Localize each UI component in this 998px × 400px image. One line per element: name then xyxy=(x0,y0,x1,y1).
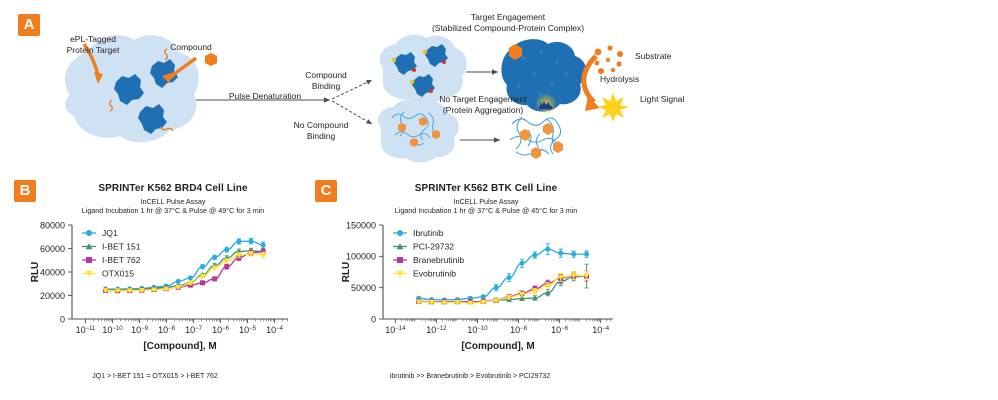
label-target-engagement: Target Engagement (Stabilized Compound-P… xyxy=(378,12,638,33)
x-tick-label: 10−10 xyxy=(102,325,123,335)
panel-b-plot-area: 02000040000600008000010−1110−1010−910−81… xyxy=(0,215,310,365)
light-burst-icon xyxy=(597,93,629,122)
y-axis-title: RLU xyxy=(30,262,41,283)
x-tick-label: 10−9 xyxy=(131,325,149,335)
data-point-marker xyxy=(507,275,512,280)
x-tick-label: 10−8 xyxy=(510,325,528,335)
x-tick-label: 10−4 xyxy=(592,325,610,335)
y-tick-label: 80000 xyxy=(40,220,65,230)
y-tick-label: 0 xyxy=(371,314,376,324)
data-point-marker xyxy=(236,239,241,244)
substrate-dots xyxy=(595,45,623,74)
x-tick-label: 10−14 xyxy=(385,325,406,335)
data-point-marker xyxy=(224,264,229,269)
label-no-compound-binding: No Compound Binding xyxy=(276,120,366,141)
x-tick-label: 10−4 xyxy=(266,325,284,335)
legend-label: Ibrutinib xyxy=(413,228,444,238)
data-point-marker xyxy=(545,247,550,252)
data-point-marker xyxy=(188,275,193,280)
y-tick-label: 50000 xyxy=(351,283,376,293)
hydrolysis-arrow xyxy=(584,56,596,102)
label-pulse-denaturation: Pulse Denaturation xyxy=(205,91,325,102)
legend-item-ibrutinib[interactable]: Ibrutinib xyxy=(393,228,444,238)
legend-item-i-bet-151[interactable]: I-BET 151 xyxy=(82,242,141,252)
label-light-signal: Light Signal xyxy=(640,94,720,105)
y-tick-label: 100000 xyxy=(346,252,376,262)
legend-item-evobrutinib[interactable]: Evobrutinib xyxy=(393,269,456,279)
data-point-marker xyxy=(224,247,229,252)
y-tick-label: 40000 xyxy=(40,267,65,277)
x-axis-title: [Compound], M xyxy=(143,341,216,352)
panel-b-title: SPRINTer K562 BRD4 Cell Line xyxy=(0,183,328,194)
x-tick-label: 10−5 xyxy=(239,325,257,335)
data-point-marker xyxy=(261,242,266,247)
legend-label: OTX015 xyxy=(102,269,134,279)
data-point-marker xyxy=(200,264,205,269)
panel-b-footer-ranking: JQ1 > I-BET 151 = OTX015 > I-BET 762 xyxy=(0,373,310,380)
label-compound: Compound xyxy=(155,42,227,53)
panel-b-chart: B SPRINTer K562 BRD4 Cell Line InCELL Pu… xyxy=(0,175,310,400)
x-tick-label: 10−6 xyxy=(551,325,569,335)
x-tick-label: 10−7 xyxy=(185,325,203,335)
data-point-marker xyxy=(571,252,576,257)
label-hydrolysis: Hydrolysis xyxy=(600,74,670,85)
legend-item-pci-29732[interactable]: PCI-29732 xyxy=(393,242,454,252)
y-tick-label: 60000 xyxy=(40,244,65,254)
panel-b-subtitle-assay: InCELL Pulse Assay xyxy=(0,197,328,206)
x-tick-label: 10−8 xyxy=(158,325,176,335)
y-axis-title: RLU xyxy=(341,262,352,283)
data-point-marker xyxy=(212,255,217,260)
data-point-marker xyxy=(481,294,486,299)
data-point-marker xyxy=(397,257,403,263)
y-tick-label: 0 xyxy=(60,314,65,324)
data-point-marker xyxy=(200,280,205,285)
data-point-marker xyxy=(397,230,403,236)
legend-item-otx015[interactable]: OTX015 xyxy=(82,269,134,279)
legend-item-jq1[interactable]: JQ1 xyxy=(82,228,118,238)
y-tick-label: 150000 xyxy=(346,220,376,230)
y-tick-label: 20000 xyxy=(40,291,65,301)
legend-item-i-bet-762[interactable]: I-BET 762 xyxy=(82,255,141,265)
panel-c-title: SPRINTer K562 BTK Cell Line xyxy=(305,183,651,194)
x-tick-label: 10−11 xyxy=(76,325,96,335)
data-point-marker xyxy=(494,285,499,290)
legend-label: Evobrutinib xyxy=(413,269,456,279)
panel-c-chart: C SPRINTer K562 BTK Cell Line InCELL Pul… xyxy=(305,175,635,400)
x-tick-label: 10−12 xyxy=(426,325,447,335)
label-epl-tagged-protein-target: ePL-Tagged Protein Target xyxy=(48,34,138,55)
panel-c-subtitle-assay: InCELL Pulse Assay xyxy=(305,197,651,206)
data-point-marker xyxy=(532,253,537,258)
panel-b-subtitle-conditions: Ligand Incubation 1 hr @ 37°C & Pulse @ … xyxy=(0,206,328,215)
legend-label: JQ1 xyxy=(102,228,118,238)
data-point-marker xyxy=(86,257,92,263)
label-no-target-engagement: No Target Engagement (Protein Aggregatio… xyxy=(388,94,578,115)
legend-item-branebrutinib[interactable]: Branebrutinib xyxy=(393,255,464,265)
panel-a-schematic: A xyxy=(0,0,998,175)
data-point-marker xyxy=(249,239,254,244)
legend-label: I-BET 151 xyxy=(102,242,141,252)
figure-root: A xyxy=(0,0,998,400)
compound-icon xyxy=(205,53,217,66)
data-point-marker xyxy=(86,230,92,236)
label-compound-binding: Compound Binding xyxy=(288,70,364,91)
panel-c-plot-area: 05000010000015000010−1410−1210−1010−810−… xyxy=(305,215,635,365)
legend-label: PCI-29732 xyxy=(413,242,454,252)
x-tick-label: 10−6 xyxy=(212,325,230,335)
protein-aggregate-icon xyxy=(510,117,563,159)
legend-label: I-BET 762 xyxy=(102,255,141,265)
data-point-marker xyxy=(519,261,524,266)
data-point-marker xyxy=(212,276,217,281)
panel-c-subtitle-conditions: Ligand Incubation 1 hr @ 37°C & Pulse @ … xyxy=(305,206,651,215)
panel-a-badge: A xyxy=(18,14,40,36)
data-point-marker xyxy=(584,252,589,257)
x-tick-label: 10−10 xyxy=(467,325,488,335)
panel-c-footer-ranking: ibrutinib >> Branebrutinib > Evobrutinib… xyxy=(305,373,635,380)
x-axis-title: [Compound], M xyxy=(461,341,534,352)
label-substrate: Substrate xyxy=(635,51,705,62)
legend-label: Branebrutinib xyxy=(413,255,464,265)
data-point-marker xyxy=(558,251,563,256)
